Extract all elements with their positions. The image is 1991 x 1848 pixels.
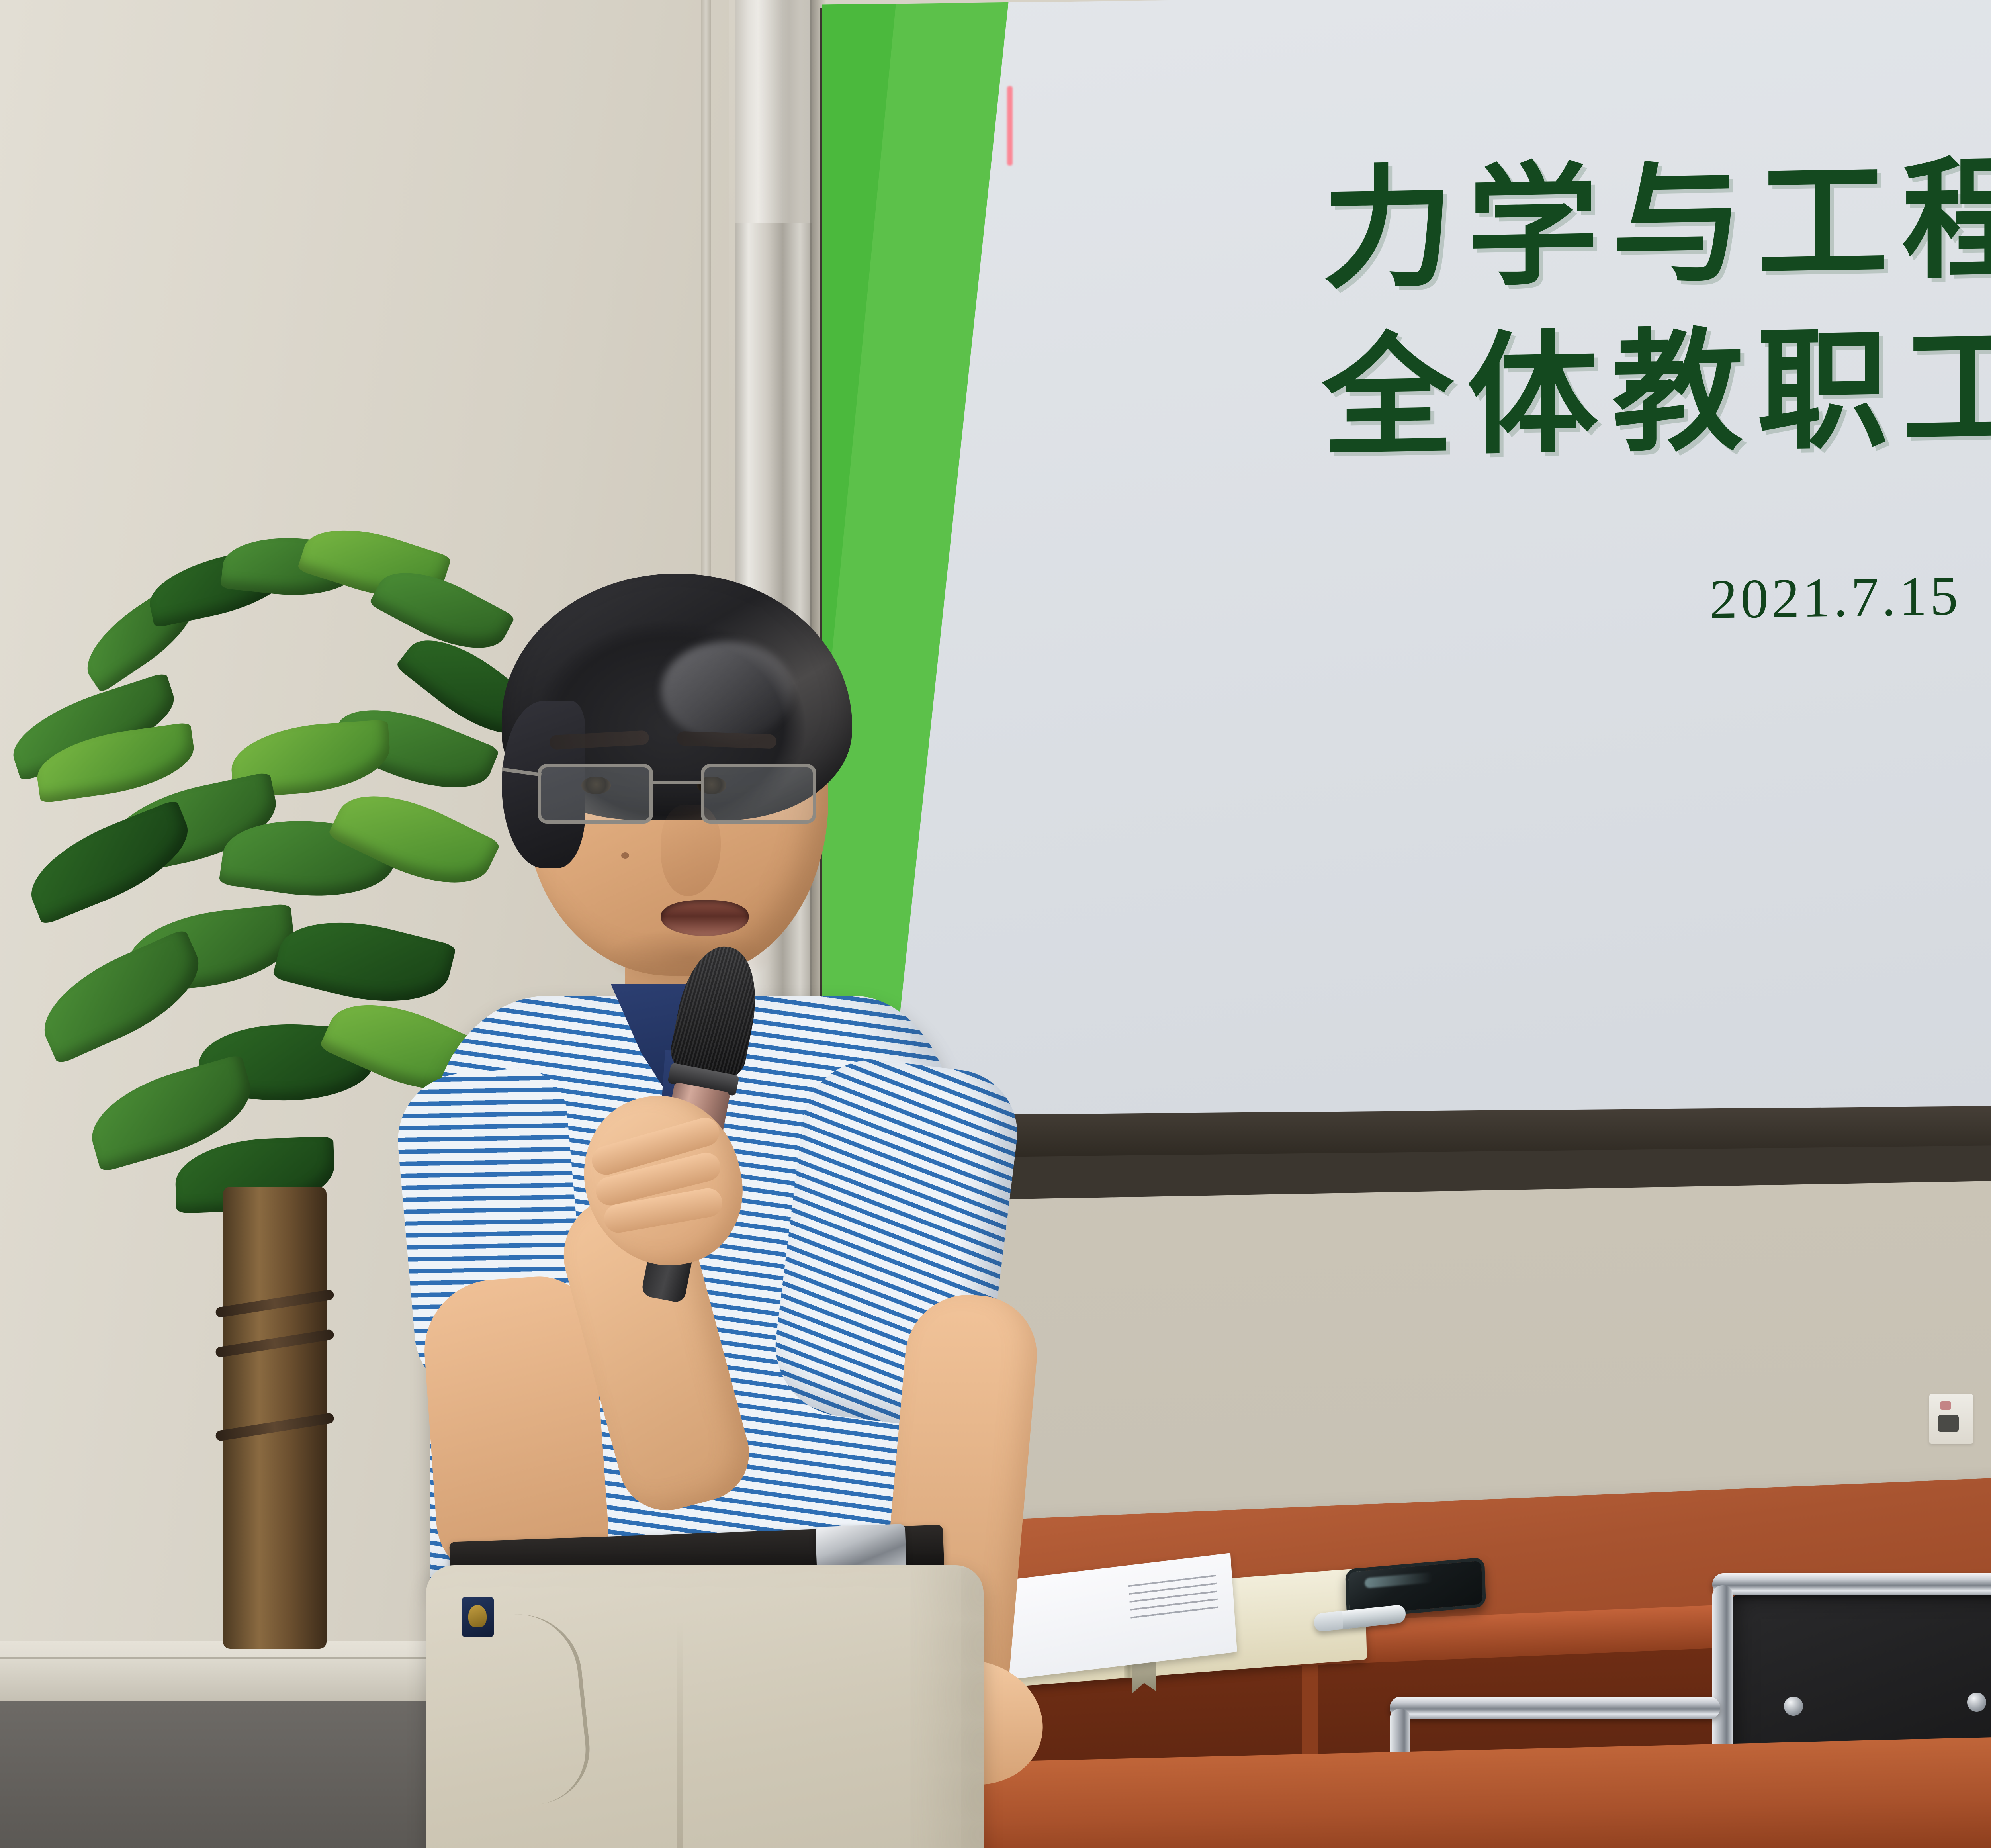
chair-screw [1967, 1693, 1986, 1712]
speaker [382, 570, 1218, 1848]
chair-frame-top-rail [1712, 1573, 1991, 1595]
eyeglass-lens-left [538, 764, 653, 824]
phone-screen-reflection [1365, 1572, 1433, 1588]
slide-title-line-1: 力学与工程学院 [1322, 129, 1991, 313]
slide-date: 2021.7.15 [1709, 564, 1961, 632]
slide-title-line-2: 全体教职工大会 [1322, 298, 1991, 482]
chair-frame-top-rail [1390, 1697, 1720, 1719]
brand-patch-emblem [468, 1605, 487, 1627]
facial-mole [621, 852, 629, 859]
plant-leaf [28, 928, 215, 1065]
steel-column-upper-section [735, 0, 812, 223]
eyeglasses [534, 757, 828, 832]
presentation-photo-scene: 力学与工程学院 全体教职工大会 2021.7.15 [0, 0, 1991, 1848]
outlet-indicator-light [1940, 1401, 1951, 1410]
eyeglass-bridge [653, 781, 701, 784]
eyeglass-lens-right [701, 764, 816, 824]
chair-screw [1784, 1697, 1803, 1716]
trouser-crease [677, 1621, 683, 1848]
trouser-brand-patch [462, 1597, 494, 1637]
pen-cap [1314, 1611, 1343, 1632]
hair-grey-highlight [661, 641, 792, 741]
